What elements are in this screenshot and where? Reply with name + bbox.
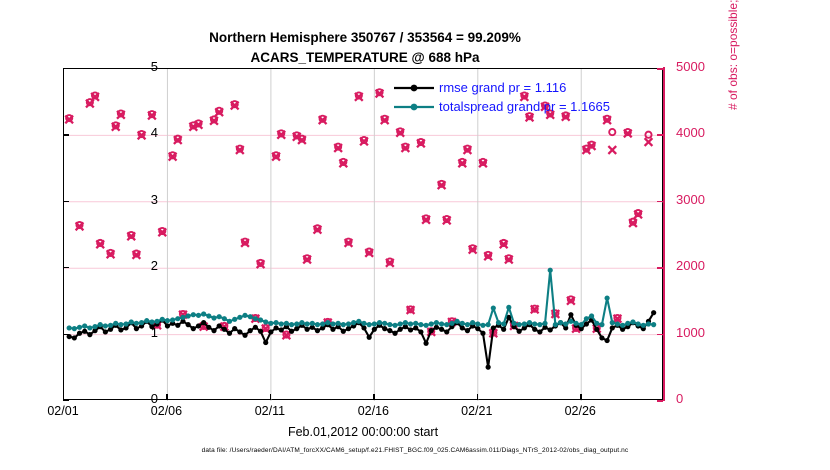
y-tick-mark-left xyxy=(63,134,69,135)
legend-label-rmse: rmse grand pr = 1.116 xyxy=(439,78,566,97)
title-line-2: ACARS_TEMPERATURE @ 688 hPa xyxy=(0,48,730,68)
legend-item-rmse: rmse grand pr = 1.116 xyxy=(392,78,610,97)
y-tick-mark-left xyxy=(63,267,69,268)
data-file-path: data file: /Users/raeder/DAI/ATM_forcXX/… xyxy=(0,447,830,454)
y-tick-mark-right xyxy=(657,334,663,336)
chart-legend: rmse grand pr = 1.116 totalspread grand … xyxy=(392,78,610,116)
figure-canvas: Northern Hemisphere 350767 / 353564 = 99… xyxy=(0,0,830,470)
x-tick-label: 02/26 xyxy=(550,404,610,418)
x-tick-mark xyxy=(477,394,478,400)
legend-label-totalspread: totalspread grand pr = 1.1665 xyxy=(439,97,610,116)
y-tick-mark-right xyxy=(657,134,663,136)
y-tick-mark-right xyxy=(657,68,663,70)
x-tick-label: 02/01 xyxy=(33,404,93,418)
plot-graphics xyxy=(64,69,664,401)
y-tick-mark-right xyxy=(657,400,663,402)
y-tick-mark-left xyxy=(63,201,69,202)
y-axis-label-right: # of obs: o=possible; x=assimilated xyxy=(726,0,740,110)
y-tick-label-left: 3 xyxy=(118,192,158,207)
y-tick-label-left: 5 xyxy=(118,59,158,74)
totalspread-line-swatch xyxy=(392,101,436,113)
chart-title: Northern Hemisphere 350767 / 353564 = 99… xyxy=(0,28,730,68)
y-tick-label-left: 4 xyxy=(118,125,158,140)
y-tick-label-right: 5000 xyxy=(676,59,724,74)
y-tick-mark-left xyxy=(63,400,69,401)
y-tick-label-left: 1 xyxy=(118,325,158,340)
y-tick-label-right: 2000 xyxy=(676,258,724,273)
y-tick-label-right: 1000 xyxy=(676,325,724,340)
x-tick-label: 02/06 xyxy=(136,404,196,418)
legend-item-totalspread: totalspread grand pr = 1.1665 xyxy=(392,97,610,116)
x-axis-label: Feb.01,2012 00:00:00 start xyxy=(63,425,663,439)
y-tick-label-left: 2 xyxy=(118,258,158,273)
x-tick-label: 02/11 xyxy=(240,404,300,418)
y-tick-mark-left xyxy=(63,68,69,69)
right-axis-spine xyxy=(663,67,665,401)
y-tick-mark-right xyxy=(657,201,663,203)
title-line-1: Northern Hemisphere 350767 / 353564 = 99… xyxy=(0,28,730,48)
x-tick-mark xyxy=(270,394,271,400)
x-tick-mark xyxy=(63,394,64,400)
rmse-line-swatch xyxy=(392,82,436,94)
x-tick-label: 02/16 xyxy=(343,404,403,418)
plot-area xyxy=(63,68,663,400)
x-tick-label: 02/21 xyxy=(447,404,507,418)
y-tick-label-right: 4000 xyxy=(676,125,724,140)
x-tick-mark xyxy=(580,394,581,400)
y-tick-mark-left xyxy=(63,334,69,335)
x-tick-mark xyxy=(166,394,167,400)
y-tick-label-right: 3000 xyxy=(676,192,724,207)
x-tick-mark xyxy=(373,394,374,400)
y-tick-mark-right xyxy=(657,267,663,269)
y-tick-label-right: 0 xyxy=(676,391,724,406)
